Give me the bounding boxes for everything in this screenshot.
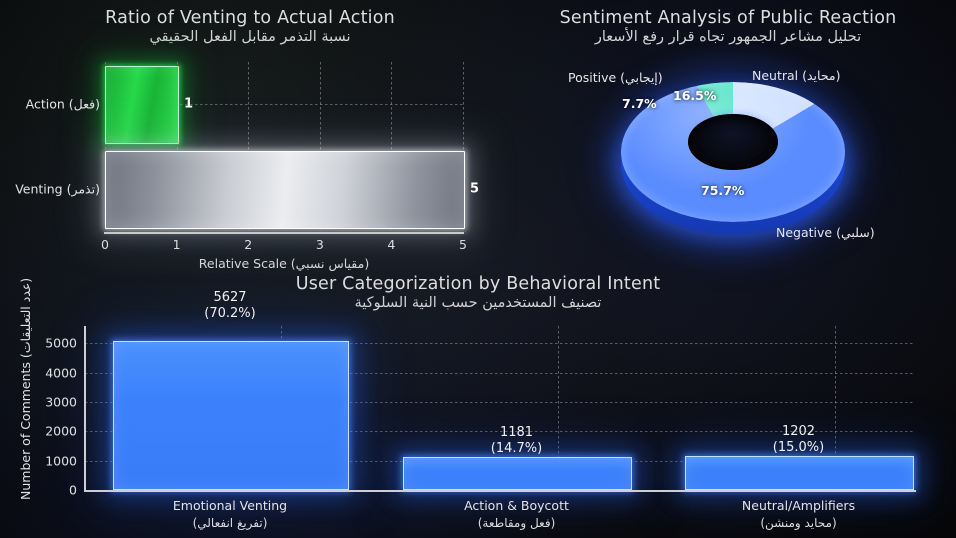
donut-center-hole [688,114,778,170]
categorization-plot-area: 5627 (70.2%) 1181 (14.7%) 1202 (15.0%) 0… [85,326,915,490]
ratio-chart-title-en: Ratio of Venting to Actual Action [0,8,500,28]
ratio-chart-title-ar: نسبة التذمر مقابل الفعل الحقيقي [0,29,500,45]
ratio-chart-title-group: Ratio of Venting to Actual Action نسبة ا… [0,8,500,45]
xtick-5: 5 [459,237,467,252]
legend-label-positive: Positive (إيجابي) [568,70,663,85]
bar-action [105,66,179,144]
sentiment-chart-title-en: Sentiment Analysis of Public Reaction [500,8,956,28]
category-en-2: Neutral/Amplifiers [685,498,912,515]
xtick-1: 1 [173,237,181,252]
bar-venting-value: 5 [470,182,479,197]
x-axis-line [104,232,464,234]
sentiment-donut-chart: 7.7% 16.5% 75.7% [618,74,848,236]
category-en-0: Emotional Venting [113,498,347,515]
ytick3-1000: 1000 [45,453,77,468]
dashboard-canvas: Ratio of Venting to Actual Action نسبة ا… [0,0,956,538]
ytick3-0: 0 [69,483,77,498]
y-axis-line [84,326,86,491]
ytick3-4000: 4000 [45,365,77,380]
categorization-chart-panel: User Categorization by Behavioral Intent… [0,268,956,538]
bar-value-emotional-venting: 5627 (70.2%) [113,290,347,323]
bar-action-value: 1 [184,97,193,112]
slice-value-negative: 75.7% [701,183,744,198]
category-label-neutral-amplifiers: Neutral/Amplifiers (محايد ومنشن) [685,498,912,531]
xtick-3: 3 [316,237,324,252]
xtick-4: 4 [387,237,395,252]
category-en-1: Action & Boycott [403,498,630,515]
bar-action-boycott [403,457,632,490]
ytick3-2000: 2000 [45,424,77,439]
slice-value-neutral: 16.5% [673,88,716,103]
bar-emotional-venting [113,341,349,490]
category-ar-0: (تفريغ انفعالي) [113,515,347,531]
sentiment-chart-panel: Sentiment Analysis of Public Reaction تح… [500,0,956,268]
ytick-label-action: Action (فعل) [26,97,100,112]
value-percent-1: (14.7%) [403,441,630,457]
xtick-2: 2 [244,237,252,252]
category-label-action-boycott: Action & Boycott (فعل ومقاطعة) [403,498,630,531]
value-number-2: 1202 [685,424,912,440]
bar-value-action-boycott: 1181 (14.7%) [403,425,630,458]
ytick3-5000: 5000 [45,336,77,351]
category-ar-2: (محايد ومنشن) [685,515,912,531]
bar-neutral-amplifiers [685,456,914,490]
legend-label-negative: Negative (سلبي) [776,225,875,240]
ratio-chart-panel: Ratio of Venting to Actual Action نسبة ا… [0,0,500,268]
bar-value-neutral-amplifiers: 1202 (15.0%) [685,424,912,457]
x-axis-line [84,490,916,492]
sentiment-chart-title-group: Sentiment Analysis of Public Reaction تح… [500,8,956,45]
value-percent-2: (15.0%) [685,440,912,456]
value-percent-0: (70.2%) [113,306,347,322]
bar-venting [105,151,465,229]
categorization-y-axis-title: Number of Comments (عدد التعليقات) [18,278,33,500]
ratio-chart-plot-area: 1 5 Action (فعل) Venting (تذمر) 0 1 2 3 … [105,62,463,232]
xtick-0: 0 [101,237,109,252]
ytick3-3000: 3000 [45,395,77,410]
ytick-label-venting: Venting (تذمر) [15,182,100,197]
legend-label-neutral: Neutral (محايد) [752,68,841,83]
value-number-0: 5627 [113,290,347,306]
sentiment-chart-title-ar: تحليل مشاعر الجمهور تجاه قرار رفع الأسعا… [500,29,956,45]
category-ar-1: (فعل ومقاطعة) [403,515,630,531]
value-number-1: 1181 [403,425,630,441]
category-label-emotional-venting: Emotional Venting (تفريغ انفعالي) [113,498,347,531]
slice-value-positive: 7.7% [622,96,657,111]
